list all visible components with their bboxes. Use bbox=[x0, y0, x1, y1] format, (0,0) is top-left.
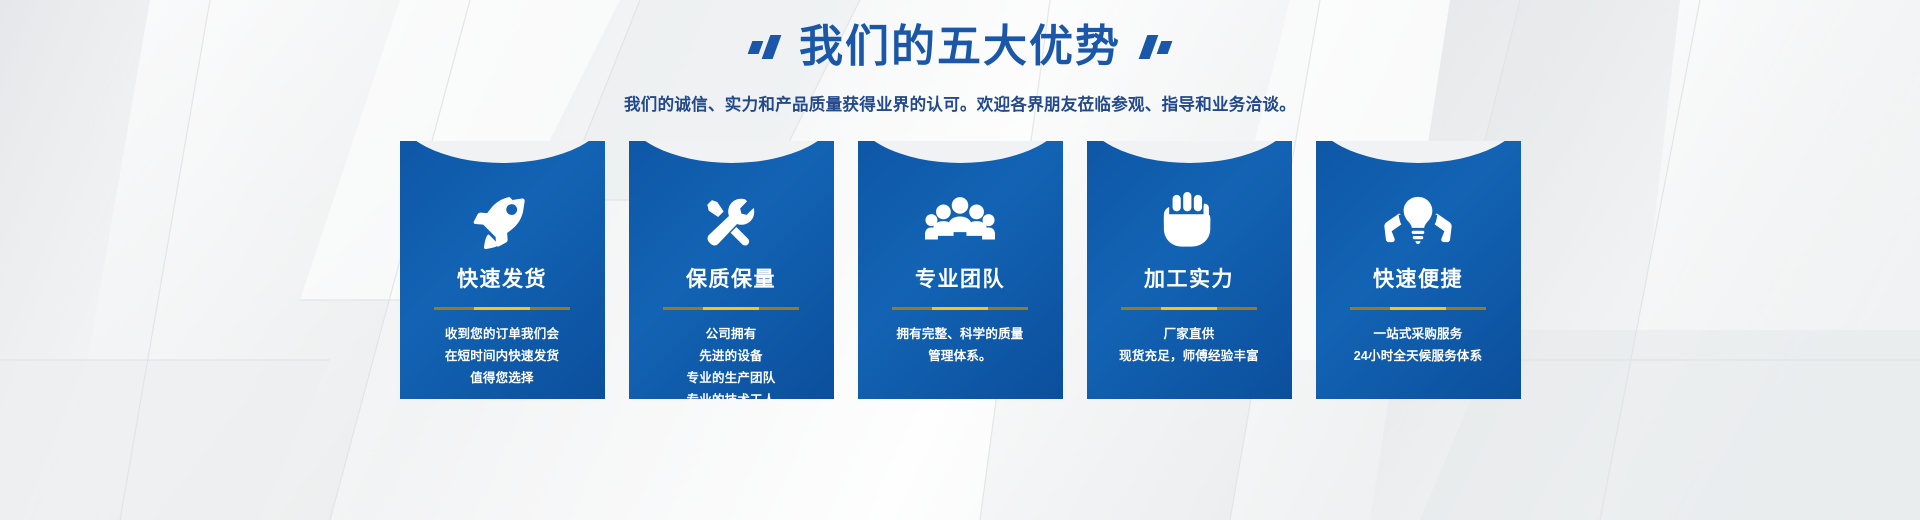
section-header: 我们的五大优势 我们的诚信、实力和产品质量获得业界的认可。欢迎各界朋友莅临参观、… bbox=[0, 0, 1920, 115]
card-desc-line: 值得您选择 bbox=[400, 368, 605, 390]
team-people-icon bbox=[858, 189, 1063, 255]
card-description: 拥有完整、科学的质量 管理体系。 bbox=[858, 324, 1063, 368]
advantage-card[interactable]: 保质保量 公司拥有 先进的设备 专业的生产团队 专业的技术工人 bbox=[629, 141, 834, 399]
card-description: 一站式采购服务 24小时全天候服务体系 bbox=[1316, 324, 1521, 368]
advantage-card-list: 快速发货 收到您的订单我们会 在短时间内快速发货 值得您选择 保质保量 公司拥有… bbox=[0, 141, 1920, 399]
title-row: 我们的五大优势 bbox=[0, 16, 1920, 78]
card-title: 快速发货 bbox=[400, 269, 605, 290]
card-desc-line: 公司拥有 bbox=[629, 324, 834, 346]
page-title: 我们的五大优势 bbox=[799, 25, 1121, 69]
card-top-arc bbox=[1087, 141, 1292, 163]
fist-hand-icon bbox=[1087, 189, 1292, 255]
card-desc-line: 厂家直供 bbox=[1087, 324, 1292, 346]
wrench-screwdriver-icon bbox=[629, 189, 834, 255]
card-description: 收到您的订单我们会 在短时间内快速发货 值得您选择 bbox=[400, 324, 605, 390]
lightbulb-hands-icon bbox=[1316, 189, 1521, 255]
advantage-card[interactable]: 快速便捷 一站式采购服务 24小时全天候服务体系 bbox=[1316, 141, 1521, 399]
card-description: 厂家直供 现货充足，师傅经验丰富 bbox=[1087, 324, 1292, 368]
card-top-arc bbox=[629, 141, 834, 163]
card-title: 快速便捷 bbox=[1316, 269, 1521, 290]
page-subtitle: 我们的诚信、实力和产品质量获得业界的认可。欢迎各界朋友莅临参观、指导和业务洽谈。 bbox=[0, 91, 1920, 115]
card-desc-line: 专业的技术工人 bbox=[629, 390, 834, 399]
diagonal-bars-left-icon bbox=[750, 35, 777, 59]
card-desc-line: 拥有完整、科学的质量 bbox=[858, 324, 1063, 346]
card-desc-line: 一站式采购服务 bbox=[1316, 324, 1521, 346]
advantage-card[interactable]: 专业团队 拥有完整、科学的质量 管理体系。 bbox=[858, 141, 1063, 399]
diagonal-bars-right-icon bbox=[1143, 35, 1170, 59]
card-divider bbox=[663, 307, 799, 310]
card-desc-line: 先进的设备 bbox=[629, 346, 834, 368]
card-title: 保质保量 bbox=[629, 269, 834, 290]
card-divider bbox=[434, 307, 570, 310]
card-description: 公司拥有 先进的设备 专业的生产团队 专业的技术工人 bbox=[629, 324, 834, 399]
card-desc-line: 24小时全天候服务体系 bbox=[1316, 346, 1521, 368]
card-top-arc bbox=[858, 141, 1063, 163]
rocket-icon bbox=[400, 189, 605, 255]
advantage-card[interactable]: 快速发货 收到您的订单我们会 在短时间内快速发货 值得您选择 bbox=[400, 141, 605, 399]
card-desc-line: 专业的生产团队 bbox=[629, 368, 834, 390]
card-desc-line: 现货充足，师傅经验丰富 bbox=[1087, 346, 1292, 368]
card-title: 加工实力 bbox=[1087, 269, 1292, 290]
card-divider bbox=[1350, 307, 1486, 310]
advantage-card[interactable]: 加工实力 厂家直供 现货充足，师傅经验丰富 bbox=[1087, 141, 1292, 399]
card-desc-line: 管理体系。 bbox=[858, 346, 1063, 368]
card-top-arc bbox=[400, 141, 605, 163]
card-top-arc bbox=[1316, 141, 1521, 163]
card-desc-line: 收到您的订单我们会 bbox=[400, 324, 605, 346]
card-divider bbox=[892, 307, 1028, 310]
card-desc-line: 在短时间内快速发货 bbox=[400, 346, 605, 368]
card-divider bbox=[1121, 307, 1257, 310]
card-title: 专业团队 bbox=[858, 269, 1063, 290]
